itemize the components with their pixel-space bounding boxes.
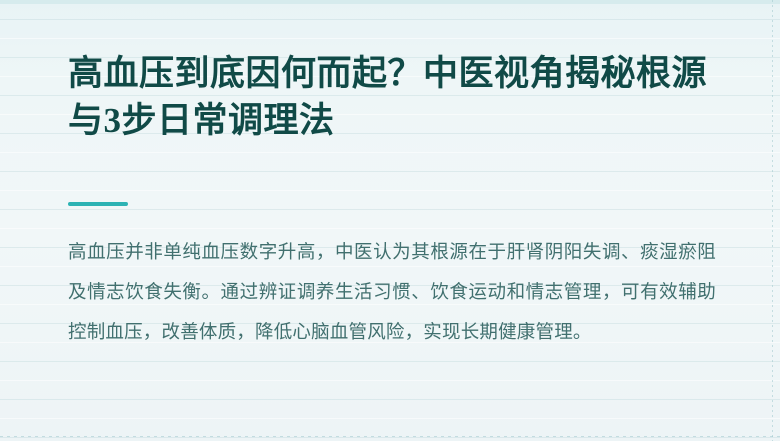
article-summary-card: 高血压到底因何而起？中医视角揭秘根源与3步日常调理法 高血压并非单纯血压数字升高… xyxy=(0,0,780,441)
right-edge-hairline xyxy=(772,0,773,441)
accent-divider xyxy=(68,202,128,206)
card-content: 高血压到底因何而起？中医视角揭秘根源与3步日常调理法 高血压并非单纯血压数字升高… xyxy=(68,0,714,441)
summary-paragraph: 高血压并非单纯血压数字升高，中医认为其根源在于肝肾阴阳失调、痰湿瘀阻及情志饮食失… xyxy=(68,232,716,352)
page-title: 高血压到底因何而起？中医视角揭秘根源与3步日常调理法 xyxy=(68,50,714,144)
